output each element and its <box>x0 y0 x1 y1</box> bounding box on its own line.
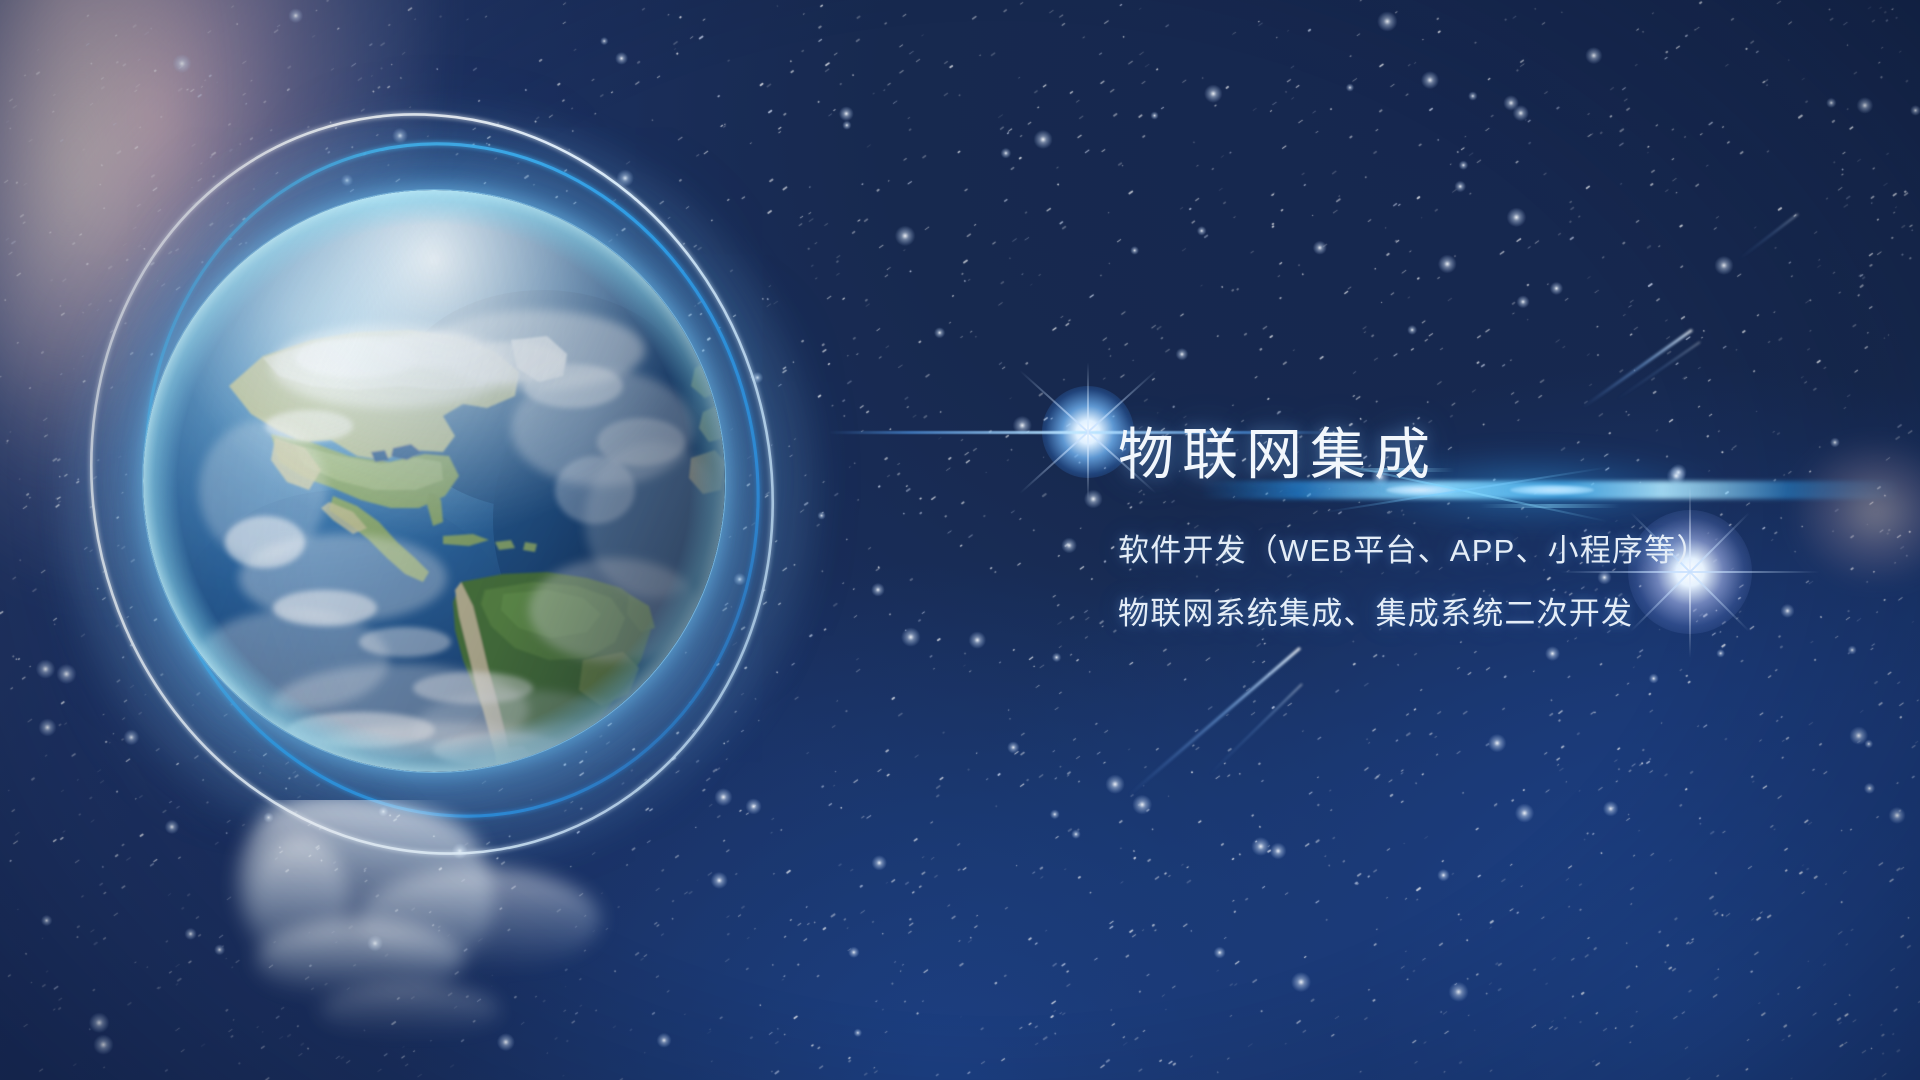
earth-globe-surface <box>143 190 725 772</box>
earth-globe <box>143 190 725 772</box>
subtitle-line-1: 软件开发（WEB平台、APP、小程序等） <box>1118 535 1838 566</box>
hero-banner: 物联网集成 软件开发（WEB平台、APP、小程序等） 物联网系统集成、集成系统二… <box>0 0 1920 1080</box>
page-title: 物联网集成 <box>1118 425 1838 485</box>
subtitle-line-2: 物联网系统集成、集成系统二次开发 <box>1118 598 1838 629</box>
banner-text-block: 物联网集成 软件开发（WEB平台、APP、小程序等） 物联网系统集成、集成系统二… <box>1118 425 1838 629</box>
earth-globe-map <box>143 190 725 772</box>
